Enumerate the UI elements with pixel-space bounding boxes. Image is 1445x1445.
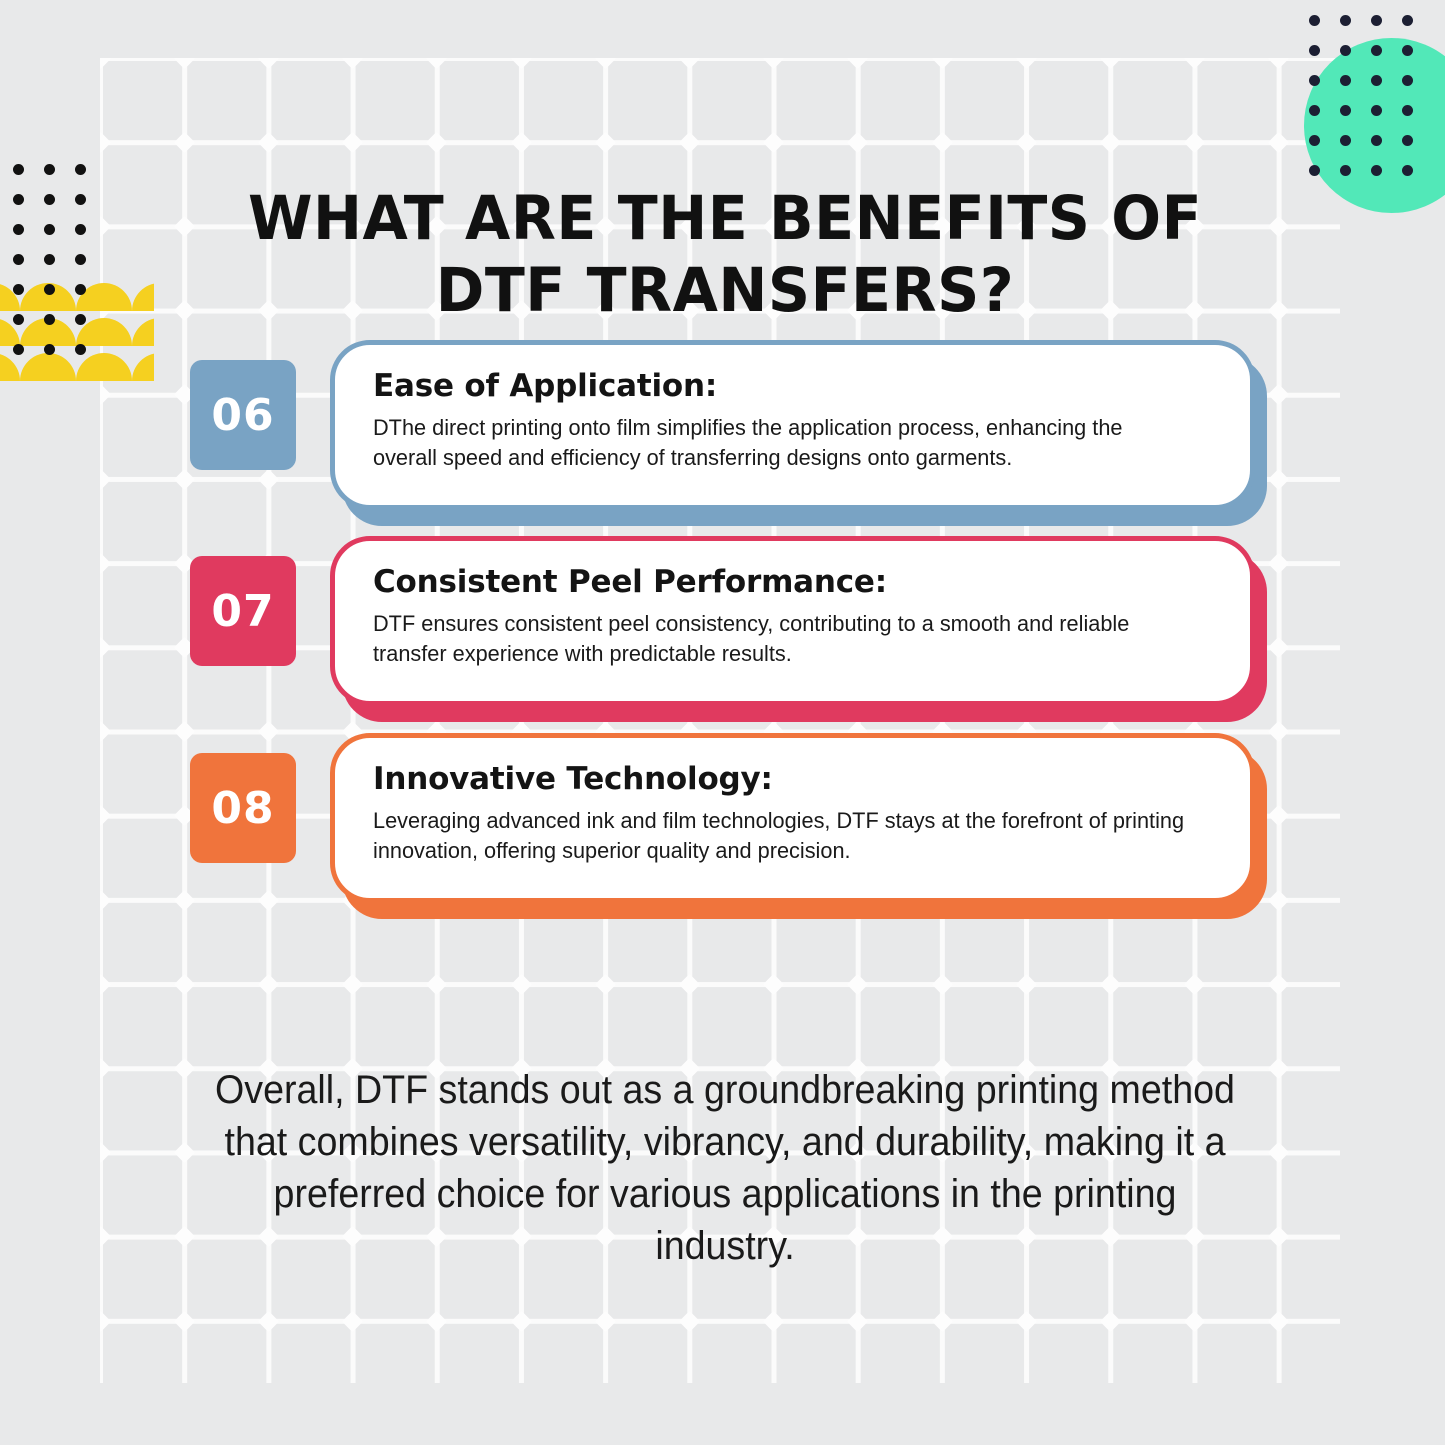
- left-dot-pattern-overlay: [13, 164, 106, 374]
- dot-icon: [1309, 75, 1320, 86]
- grid-diamond-icon: [100, 1226, 111, 1247]
- card-heading: Ease of Application:: [373, 367, 1216, 405]
- grid-diamond-icon: [342, 132, 363, 153]
- dot-icon: [1309, 15, 1320, 26]
- benefit-card: 07Consistent Peel Performance:DTF ensure…: [190, 536, 1265, 711]
- dot-icon: [1340, 165, 1351, 176]
- grid-diamond-icon: [1016, 132, 1037, 153]
- grid-diamond-icon: [1268, 1226, 1289, 1247]
- grid-diamond-icon: [1184, 974, 1205, 995]
- card-shell: Innovative Technology:Leveraging advance…: [330, 733, 1255, 903]
- grid-diamond-icon: [1268, 216, 1289, 237]
- dot-icon: [1340, 15, 1351, 26]
- grid-diamond-icon: [100, 58, 111, 69]
- grid-diamond-icon: [426, 1310, 447, 1331]
- grid-diamond-icon: [1268, 300, 1289, 321]
- dot-icon: [1371, 105, 1382, 116]
- grid-diamond-icon: [1016, 1310, 1037, 1331]
- grid-diamond-icon: [847, 132, 868, 153]
- card-description: DThe direct printing onto film simplifie…: [373, 413, 1186, 473]
- grid-diamond-icon: [1100, 58, 1121, 69]
- summary-paragraph: Overall, DTF stands out as a groundbreak…: [203, 1064, 1246, 1272]
- dot-icon: [1371, 165, 1382, 176]
- dot-icon: [75, 344, 86, 355]
- card-shell: Ease of Application:DThe direct printing…: [330, 340, 1255, 510]
- benefit-card: 08Innovative Technology:Leveraging advan…: [190, 733, 1265, 908]
- grid-diamond-icon: [100, 468, 111, 489]
- grid-diamond-icon: [1100, 132, 1121, 153]
- grid-diamond-icon: [258, 1310, 279, 1331]
- grid-diamond-icon: [679, 1310, 700, 1331]
- grid-diamond-icon: [174, 132, 195, 153]
- grid-diamond-icon: [1268, 974, 1289, 995]
- dot-icon: [13, 224, 24, 235]
- grid-diamond-icon: [763, 58, 784, 69]
- grid-diamond-icon: [510, 58, 531, 69]
- card-shell: Consistent Peel Performance:DTF ensures …: [330, 536, 1255, 706]
- semicircle-icon: [132, 318, 154, 346]
- grid-diamond-icon: [100, 553, 111, 574]
- dot-icon: [13, 284, 24, 295]
- grid-diamond-icon: [342, 1310, 363, 1331]
- grid-diamond-icon: [1268, 1058, 1289, 1079]
- grid-diamond-icon: [931, 132, 952, 153]
- dot-icon: [1309, 135, 1320, 146]
- grid-diamond-icon: [763, 1310, 784, 1331]
- grid-diamond-icon: [1184, 1310, 1205, 1331]
- grid-diamond-icon: [1268, 553, 1289, 574]
- grid-diamond-icon: [595, 974, 616, 995]
- card-body-panel: Ease of Application:DThe direct printing…: [330, 340, 1255, 510]
- grid-diamond-icon: [100, 132, 111, 153]
- grid-diamond-icon: [426, 58, 447, 69]
- card-heading: Consistent Peel Performance:: [373, 563, 1216, 601]
- card-number-badge: 07: [190, 556, 296, 666]
- grid-diamond-icon: [1268, 132, 1289, 153]
- grid-diamond-icon: [1184, 58, 1205, 69]
- dot-icon: [1340, 135, 1351, 146]
- grid-diamond-icon: [1268, 58, 1289, 69]
- dot-icon: [13, 164, 24, 175]
- dot-icon: [75, 314, 86, 325]
- grid-diamond-icon: [763, 132, 784, 153]
- semicircle-icon: [132, 283, 154, 311]
- dot-icon: [44, 194, 55, 205]
- grid-diamond-icon: [1268, 805, 1289, 826]
- dot-icon: [1309, 105, 1320, 116]
- grid-diamond-icon: [174, 1142, 195, 1163]
- grid-diamond-icon: [174, 1226, 195, 1247]
- grid-diamond-icon: [595, 132, 616, 153]
- grid-diamond-icon: [510, 1310, 531, 1331]
- grid-diamond-icon: [847, 1310, 868, 1331]
- card-body-panel: Innovative Technology:Leveraging advance…: [330, 733, 1255, 903]
- grid-diamond-icon: [426, 974, 447, 995]
- dot-icon: [1402, 75, 1413, 86]
- grid-diamond-icon: [595, 1310, 616, 1331]
- benefit-card: 06Ease of Application:DThe direct printi…: [190, 340, 1265, 515]
- grid-diamond-icon: [1268, 468, 1289, 489]
- card-heading: Innovative Technology:: [373, 760, 1216, 798]
- grid-diamond-icon: [174, 58, 195, 69]
- card-body-panel: Consistent Peel Performance:DTF ensures …: [330, 536, 1255, 706]
- dot-icon: [1402, 105, 1413, 116]
- grid-diamond-icon: [174, 1058, 195, 1079]
- dot-icon: [1402, 15, 1413, 26]
- grid-diamond-icon: [595, 58, 616, 69]
- grid-diamond-icon: [510, 132, 531, 153]
- dot-icon: [1340, 75, 1351, 86]
- dot-icon: [44, 254, 55, 265]
- grid-diamond-icon: [679, 58, 700, 69]
- grid-diamond-icon: [100, 974, 111, 995]
- grid-diamond-icon: [931, 58, 952, 69]
- grid-diamond-icon: [1100, 1310, 1121, 1331]
- top-right-dot-pattern: [1309, 15, 1433, 195]
- dot-icon: [75, 284, 86, 295]
- grid-diamond-icon: [931, 1310, 952, 1331]
- grid-diamond-icon: [342, 974, 363, 995]
- dot-icon: [75, 194, 86, 205]
- grid-diamond-icon: [100, 805, 111, 826]
- dot-icon: [1371, 15, 1382, 26]
- grid-diamond-icon: [763, 974, 784, 995]
- dot-icon: [13, 344, 24, 355]
- grid-diamond-icon: [100, 1310, 111, 1331]
- grid-diamond-icon: [510, 974, 531, 995]
- infographic-canvas: WHAT ARE THE BENEFITS OF DTF TRANSFERS? …: [0, 0, 1445, 1445]
- dot-icon: [1309, 165, 1320, 176]
- dot-icon: [44, 164, 55, 175]
- grid-diamond-icon: [1268, 1142, 1289, 1163]
- dot-icon: [44, 224, 55, 235]
- dot-icon: [1402, 165, 1413, 176]
- grid-diamond-icon: [100, 721, 111, 742]
- grid-diamond-icon: [174, 974, 195, 995]
- grid-diamond-icon: [1268, 889, 1289, 910]
- dot-icon: [1309, 45, 1320, 56]
- page-title: WHAT ARE THE BENEFITS OF DTF TRANSFERS?: [192, 183, 1258, 327]
- card-description: DTF ensures consistent peel consistency,…: [373, 609, 1186, 669]
- dot-icon: [1371, 135, 1382, 146]
- card-description: Leveraging advanced ink and film technol…: [373, 806, 1186, 866]
- card-number-badge: 08: [190, 753, 296, 863]
- grid-diamond-icon: [258, 58, 279, 69]
- dot-icon: [1340, 105, 1351, 116]
- dot-icon: [44, 344, 55, 355]
- semicircle-icon: [132, 353, 154, 381]
- dot-icon: [75, 164, 86, 175]
- dot-icon: [1371, 45, 1382, 56]
- grid-diamond-icon: [679, 974, 700, 995]
- dot-icon: [13, 194, 24, 205]
- card-number-badge: 06: [190, 360, 296, 470]
- dot-icon: [75, 224, 86, 235]
- grid-diamond-icon: [342, 58, 363, 69]
- dot-icon: [13, 254, 24, 265]
- grid-diamond-icon: [100, 1142, 111, 1163]
- grid-diamond-icon: [931, 974, 952, 995]
- grid-diamond-icon: [1100, 974, 1121, 995]
- dot-icon: [13, 314, 24, 325]
- grid-diamond-icon: [258, 974, 279, 995]
- grid-diamond-icon: [1268, 384, 1289, 405]
- grid-diamond-icon: [100, 1058, 111, 1079]
- grid-diamond-icon: [679, 132, 700, 153]
- dot-icon: [1402, 135, 1413, 146]
- grid-diamond-icon: [1268, 637, 1289, 658]
- dot-icon: [1340, 45, 1351, 56]
- grid-diamond-icon: [1016, 58, 1037, 69]
- grid-diamond-icon: [847, 974, 868, 995]
- dot-icon: [1371, 75, 1382, 86]
- grid-diamond-icon: [1268, 721, 1289, 742]
- grid-diamond-icon: [847, 58, 868, 69]
- dot-icon: [44, 314, 55, 325]
- dot-icon: [1402, 45, 1413, 56]
- grid-diamond-icon: [1268, 1310, 1289, 1331]
- grid-diamond-icon: [426, 132, 447, 153]
- grid-diamond-icon: [100, 889, 111, 910]
- grid-diamond-icon: [174, 1310, 195, 1331]
- grid-diamond-icon: [258, 132, 279, 153]
- grid-diamond-icon: [1016, 974, 1037, 995]
- dot-icon: [44, 284, 55, 295]
- dot-icon: [75, 254, 86, 265]
- grid-diamond-icon: [100, 637, 111, 658]
- grid-diamond-icon: [1184, 132, 1205, 153]
